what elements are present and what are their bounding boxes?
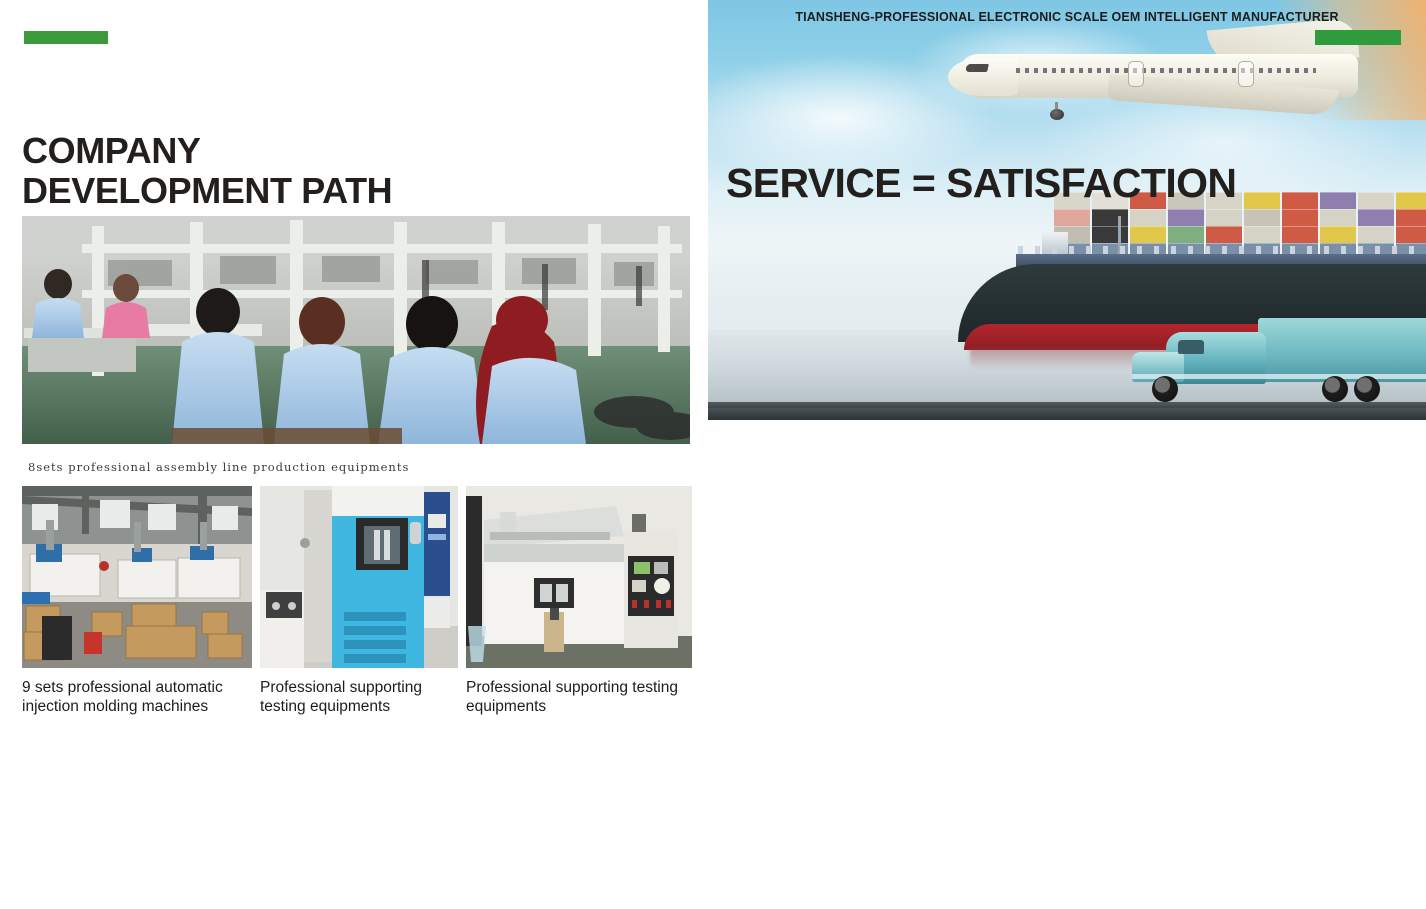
salt-spray-test-chamber-photo-art bbox=[466, 486, 692, 668]
left-panel: COMPANY DEVELOPMENT PATH bbox=[0, 0, 704, 909]
caption-injection-molding: 9 sets professional automatic injection … bbox=[22, 678, 244, 717]
injection-molding-photo bbox=[22, 486, 252, 668]
annotation-logistics-line: Sea, land, air bbox=[1394, 645, 1426, 664]
assembly-line-photo bbox=[22, 216, 690, 444]
header-strapline-text: TIANSHENG-PROFESSIONAL ELECTRONIC SCALE … bbox=[795, 10, 1338, 24]
page-title-line2: DEVELOPMENT PATH bbox=[22, 171, 662, 211]
banner-bottom-strip bbox=[708, 408, 1426, 420]
injection-molding-photo-art bbox=[22, 486, 252, 668]
annotation-logistics: Sea, land, airWe will use reasonableand … bbox=[1394, 645, 1426, 720]
caption-testing-equipments-1: Professional supporting testing equipmen… bbox=[260, 678, 460, 717]
caption-testing-equipments-2: Professional supporting testing equipmen… bbox=[466, 678, 686, 717]
service-system-diagram: Audio inputAPP production Sea, land, air… bbox=[1408, 440, 1426, 909]
header-strapline: TIANSHENG-PROFESSIONAL ELECTRONIC SCALE … bbox=[708, 8, 1426, 28]
thumbnail-row bbox=[22, 486, 692, 668]
environmental-test-chamber-photo bbox=[260, 486, 458, 668]
page-title-line1: COMPANY bbox=[22, 130, 201, 171]
right-panel: TIANSHENG-PROFESSIONAL ELECTRONIC SCALE … bbox=[704, 0, 1426, 909]
banner-headline: SERVICE = SATISFACTION bbox=[726, 160, 1236, 207]
annotation-logistics-line: and efficient Product logistics bbox=[1394, 683, 1426, 702]
truck-icon bbox=[1126, 318, 1426, 410]
environmental-test-chamber-photo-art bbox=[260, 486, 458, 668]
logistics-banner: TIANSHENG-PROFESSIONAL ELECTRONIC SCALE … bbox=[708, 0, 1426, 420]
accent-bar-right bbox=[1315, 30, 1401, 45]
annotation-logistics-line: We will use reasonable bbox=[1394, 664, 1426, 683]
assembly-line-photo-art bbox=[22, 216, 690, 444]
salt-spray-test-chamber-photo bbox=[466, 486, 692, 668]
page-title: COMPANY DEVELOPMENT PATH bbox=[22, 131, 662, 212]
accent-bar-left bbox=[24, 31, 108, 44]
slide-page: COMPANY DEVELOPMENT PATH bbox=[0, 0, 1426, 909]
assembly-line-caption: 8sets professional assembly line product… bbox=[28, 460, 688, 474]
annotation-logistics-line: and distribution. bbox=[1394, 702, 1426, 721]
thumbnail-captions: 9 sets professional automatic injection … bbox=[22, 678, 702, 726]
